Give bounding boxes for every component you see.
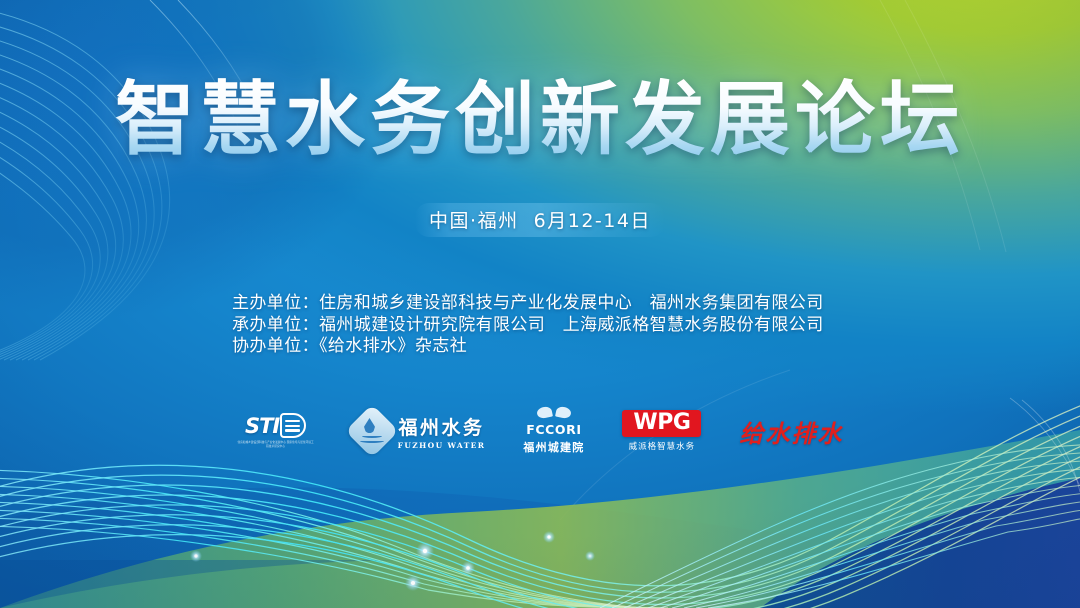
wpg-en: WPG [633,412,690,434]
fccori-cn: 福州城建院 [523,439,584,455]
page-title: 智慧水务创新发展论坛 [107,78,973,162]
subtitle-pill: 中国·福州 6月12-14日 [415,203,665,237]
stid-mark-icon: STI [245,413,306,438]
wpg-cn: 威派格智慧水务 [629,440,696,452]
logo-fccori: FCCORI 福州城建院 [523,407,584,455]
organizer-block: 主办单位：住房和城乡建设部科技与产业化发展中心 福州水务集团有限公司 承办单位：… [232,293,824,358]
wpg-badge-icon: WPG [622,410,701,437]
sponsor-logo-row: STI 住房和城乡建设部科技与产业化发展中心 国家住宅与居住环境工程技术研究中心… [0,398,1080,464]
logo-jishui-paishui: 给水排水 [739,414,843,449]
fuzhou-water-en: FUZHOU WATER [398,441,486,450]
logo-stid: STI 住房和城乡建设部科技与产业化发展中心 国家住宅与居住环境工程技术研究中心 [237,413,315,448]
fuzhou-water-text: 福州水务 FUZHOU WATER [398,413,486,450]
event-location-date: 中国·福州 6月12-14日 [429,210,651,232]
fccori-leaf-icon [537,407,571,420]
organizer-line-cohost: 协办单位：《给水排水》杂志社 [232,336,824,358]
logo-wpg: WPG 威派格智慧水务 [622,410,701,452]
stid-d-glyph-icon [280,413,306,438]
subtitle-block: 中国·福州 6月12-14日 [0,203,1080,237]
fccori-en: FCCORI [526,422,581,437]
jishui-paishui-cn: 给水排水 [739,414,843,449]
organizer-line-host: 主办单位：住房和城乡建设部科技与产业化发展中心 福州水务集团有限公司 [232,293,824,315]
fuzhou-water-cn: 福州水务 [399,413,485,440]
organizer-line-undertaker: 承办单位：福州城建设计研究院有限公司 上海威派格智慧水务股份有限公司 [232,315,824,337]
title-block: 智慧水务创新发展论坛 [0,78,1080,162]
stid-letters: STI [245,414,279,438]
water-drop-icon [345,404,399,458]
logo-fuzhou-water: 福州水务 FUZHOU WATER [353,412,486,450]
stid-subtext: 住房和城乡建设部科技与产业化发展中心 国家住宅与居住环境工程技术研究中心 [237,441,315,448]
poster-canvas: 智慧水务创新发展论坛 中国·福州 6月12-14日 主办单位：住房和城乡建设部科… [0,0,1080,608]
